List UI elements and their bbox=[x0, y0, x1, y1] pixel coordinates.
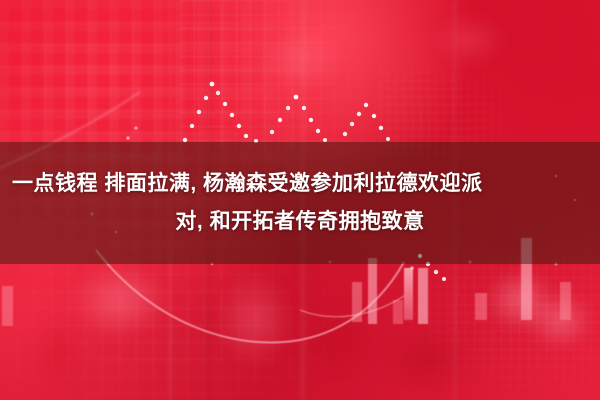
headline-line-2: 对, 和开拓者传奇拥抱致意 bbox=[175, 203, 424, 241]
headline-line-1: 一点钱程 排面拉满, 杨瀚森受邀参加利拉德欢迎派 bbox=[8, 165, 483, 203]
chart-dotted-peaks bbox=[126, 82, 390, 143]
banner-image: 一点钱程 排面拉满, 杨瀚森受邀参加利拉德欢迎派 对, 和开拓者传奇拥抱致意 bbox=[0, 0, 600, 400]
headline-overlay-band: 一点钱程 排面拉满, 杨瀚森受邀参加利拉德欢迎派 对, 和开拓者传奇拥抱致意 bbox=[0, 142, 600, 264]
